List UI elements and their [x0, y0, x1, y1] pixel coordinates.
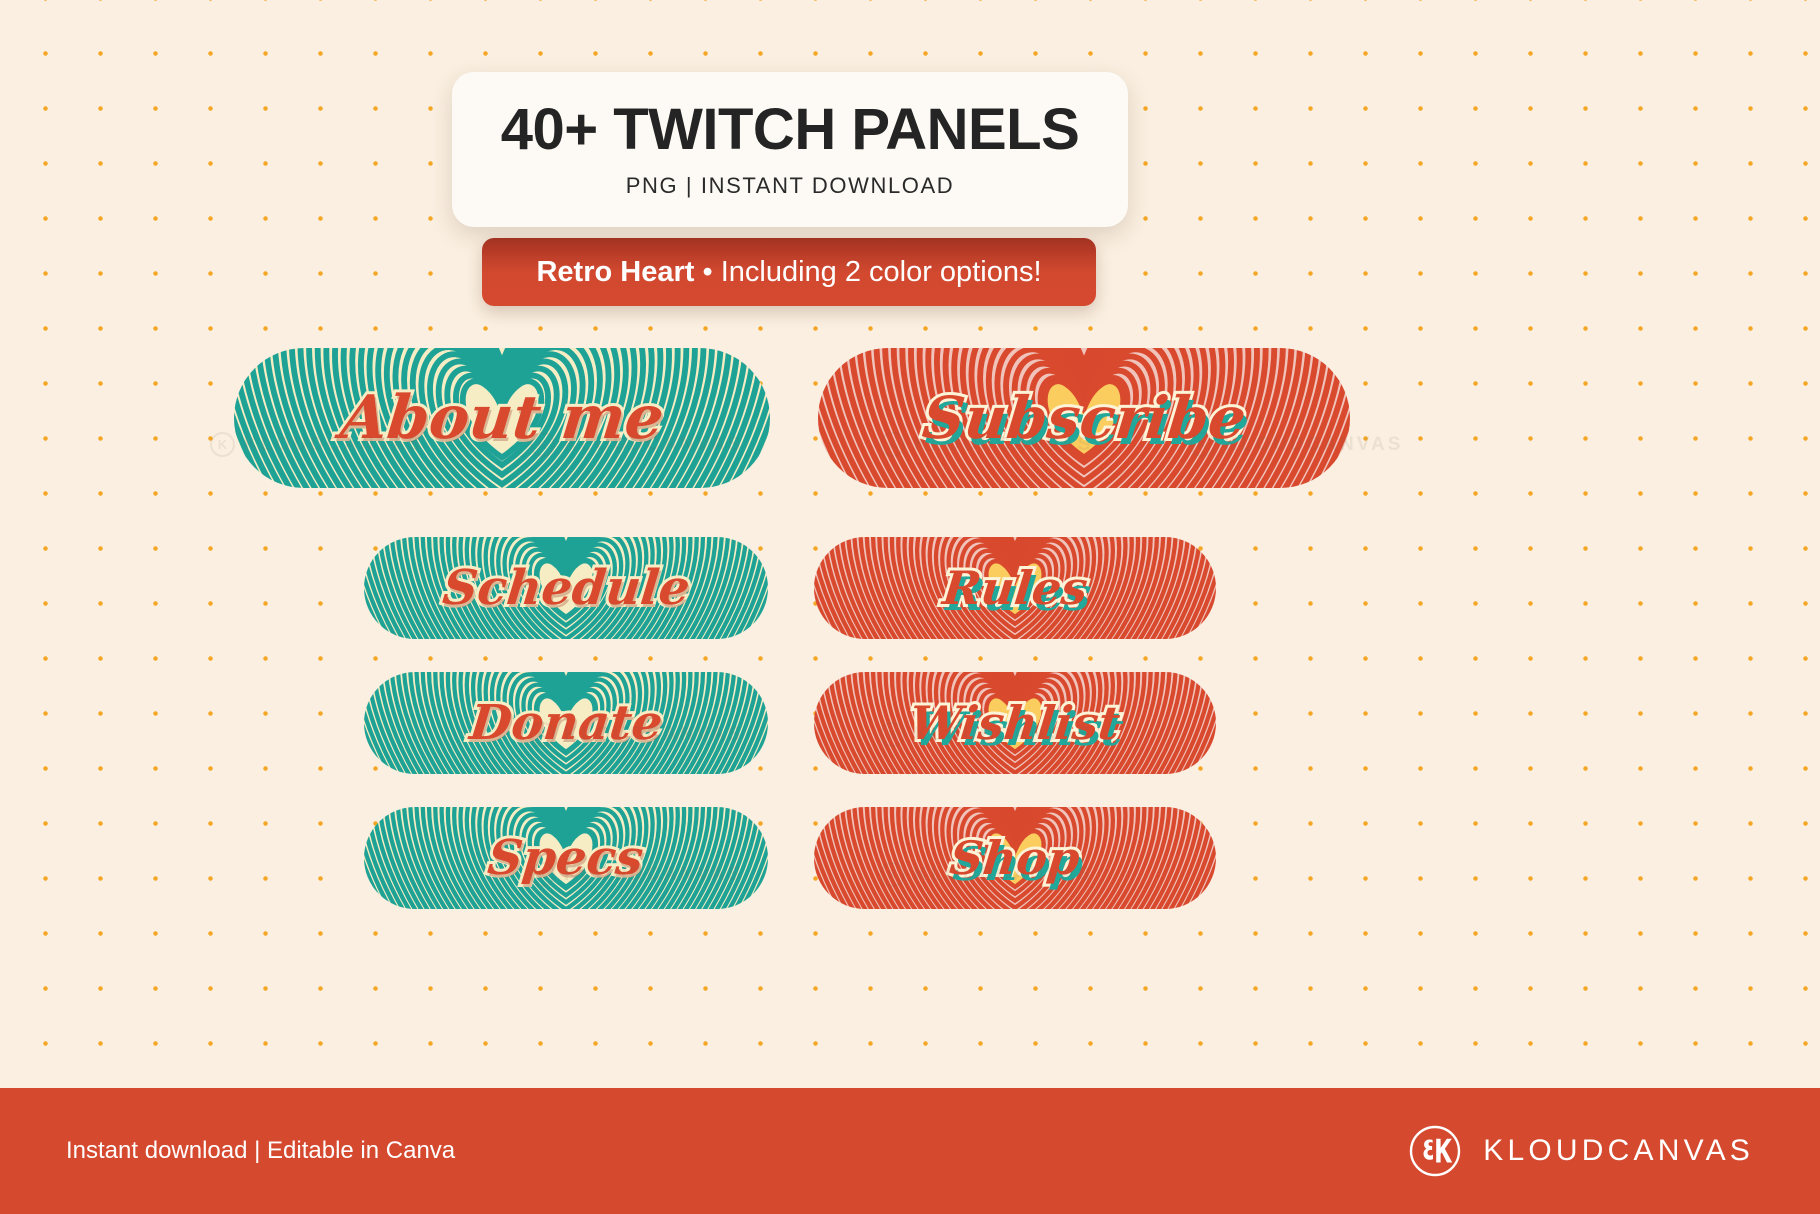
page-title: 40+ TWITCH PANELS	[501, 101, 1080, 159]
footer-bar: Instant download | Editable in Canva KLO…	[0, 1088, 1820, 1214]
footer-text: Instant download | Editable in Canva	[66, 1137, 455, 1165]
k-monogram-icon	[1409, 1125, 1461, 1177]
brand-name: KLOUDCANVAS	[1483, 1134, 1754, 1168]
twitch-panel-specs[interactable]: Specs	[364, 807, 768, 909]
twitch-panel-donate[interactable]: Donate	[364, 672, 768, 774]
panel-label: About me	[337, 383, 667, 453]
twitch-panel-wishlist[interactable]: Wishlist	[814, 672, 1216, 774]
twitch-panel-subscribe[interactable]: Subscribe	[818, 348, 1350, 488]
subtitle-banner: Retro Heart • Including 2 color options!	[482, 238, 1096, 306]
panel-label: Schedule	[440, 560, 692, 616]
panel-label: Rules	[940, 561, 1090, 615]
twitch-panel-about-me[interactable]: About me	[234, 348, 770, 488]
banner-light-text: • Including 2 color options!	[694, 256, 1041, 288]
panel-label: Donate	[467, 695, 665, 751]
watermark-k-icon: K	[210, 432, 235, 457]
panel-label: Wishlist	[907, 696, 1122, 750]
twitch-panel-schedule[interactable]: Schedule	[364, 537, 768, 639]
twitch-panel-rules[interactable]: Rules	[814, 537, 1216, 639]
panel-label: Specs	[486, 830, 647, 886]
header-subtitle: PNG | INSTANT DOWNLOAD	[626, 173, 955, 199]
subtitle-banner-text: Retro Heart • Including 2 color options!	[536, 256, 1041, 289]
header-card: 40+ TWITCH PANELS PNG | INSTANT DOWNLOAD	[452, 72, 1128, 227]
brand-lockup: KLOUDCANVAS	[1409, 1125, 1754, 1177]
banner-bold-text: Retro Heart	[536, 256, 694, 288]
panel-label: Subscribe	[919, 384, 1249, 452]
twitch-panel-shop[interactable]: Shop	[814, 807, 1216, 909]
panel-label: Shop	[947, 831, 1082, 885]
